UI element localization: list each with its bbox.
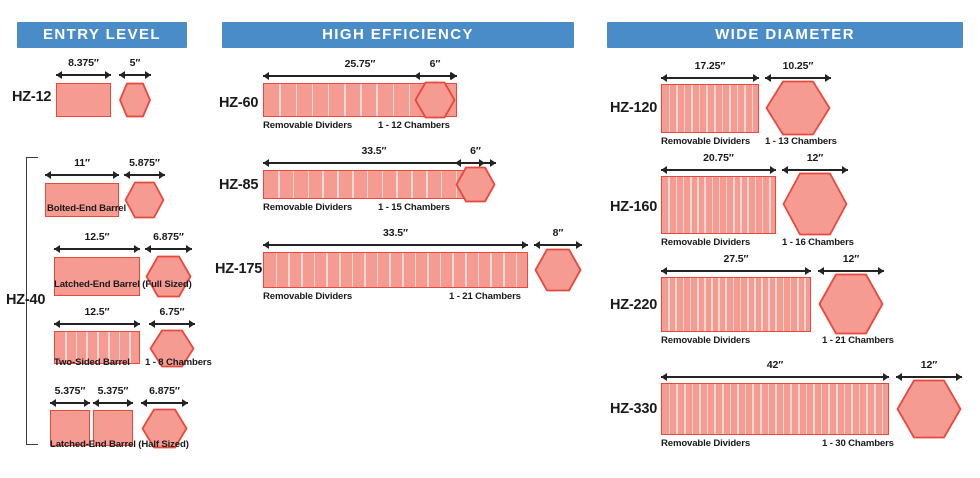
dimension-text-hz-12-hex: 5″ [119, 57, 151, 69]
barrel-divider [775, 384, 777, 434]
barrel-divider [768, 278, 770, 331]
barrel-divider [714, 85, 716, 132]
barrel-divider [293, 171, 295, 198]
barrel-divider [733, 278, 735, 331]
barrel-divider [676, 384, 678, 434]
caption-bolted-end-barrel: Bolted-End Barrel [47, 203, 126, 214]
barrel-divider [760, 384, 762, 434]
hexagon-hz-120 [765, 80, 831, 136]
column-header-wide-diameter: WIDE DIAMETER [607, 22, 963, 48]
barrel-divider [690, 278, 692, 331]
dimension-text-hz-12-barrel: 8.375″ [56, 57, 111, 69]
dimension-line-half-hex [141, 397, 188, 408]
dimension-line-hz-160-barrel [661, 164, 776, 175]
dimension-text-hz-330-hex: 12″ [896, 359, 962, 371]
barrel-hz-330 [661, 383, 889, 435]
barrel-divider [783, 278, 785, 331]
barrel-divider [722, 85, 724, 132]
dimension-text-hz-120-barrel: 17.25″ [661, 60, 759, 72]
caption-hz-220-dividers: Removable Dividers [661, 335, 750, 346]
barrel-divider [337, 171, 339, 198]
barrel-divider [740, 278, 742, 331]
barrel-divider [730, 384, 732, 434]
barrel-divider [352, 171, 354, 198]
dimension-text-bolted-barrel: 11″ [45, 157, 119, 169]
barrel-divider [478, 253, 480, 287]
barrel-divider [360, 84, 362, 116]
barrel-divider [684, 384, 686, 434]
dimension-text-latched-full-hex: 6.875″ [142, 231, 195, 243]
caption-hz-120-chambers: 1 - 13 Chambers [765, 136, 837, 147]
barrel-latched-end-full [54, 257, 140, 296]
model-label-hz-12: HZ-12 [12, 89, 51, 105]
dimension-text-hz-120-hex: 10.25″ [765, 60, 831, 72]
barrel-divider [726, 177, 728, 233]
dimension-text-hz-175-hex: 8″ [534, 227, 582, 239]
barrel-divider [737, 384, 739, 434]
barrel-divider [684, 85, 686, 132]
barrel-divider [683, 278, 685, 331]
barrel-divider [821, 384, 823, 434]
dimension-line-hz-12-barrel [56, 69, 111, 80]
barrel-divider [440, 253, 442, 287]
hexagon-hz-220 [818, 273, 884, 335]
column-header-high-efficiency: HIGH EFFICIENCY [222, 22, 574, 48]
barrel-divider [752, 384, 754, 434]
barrel-divider [452, 253, 454, 287]
dimension-line-hz-60-hex [414, 70, 456, 81]
barrel-divider [745, 384, 747, 434]
dimension-line-half-barrel-a [50, 397, 90, 408]
barrel-divider [692, 384, 694, 434]
dimension-text-hz-60-hex: 6″ [414, 58, 456, 70]
barrel-divider [278, 171, 280, 198]
barrel-divider [813, 384, 815, 434]
hexagon-hz-160 [782, 172, 848, 236]
barrel-divider [676, 85, 678, 132]
barrel-divider [775, 278, 777, 331]
caption-hz-330-dividers: Removable Dividers [661, 438, 750, 449]
dimension-text-hz-330-barrel: 42″ [661, 359, 889, 371]
barrel-divider [411, 171, 413, 198]
hexagon-hz-175 [534, 248, 582, 292]
caption-hz-220-chambers: 1 - 21 Chambers [822, 335, 894, 346]
barrel-divider [296, 84, 298, 116]
barrel-divider [704, 177, 706, 233]
model-label-hz-40: HZ-40 [6, 292, 45, 308]
caption-hz-330-chambers: 1 - 30 Chambers [822, 438, 894, 449]
barrel-divider [322, 171, 324, 198]
barrel-divider [790, 278, 792, 331]
barrel-divider [669, 384, 671, 434]
model-label-hz-220: HZ-220 [610, 297, 657, 313]
caption-hz-160-chambers: 1 - 16 Chambers [782, 237, 854, 248]
dimension-line-bolted-barrel [45, 169, 119, 180]
barrel-divider [836, 384, 838, 434]
barrel-divider [704, 278, 706, 331]
caption-hz-85-dividers: Removable Dividers [263, 202, 352, 213]
barrel-divider [308, 171, 310, 198]
barrel-hz-12 [56, 83, 111, 117]
dimension-line-latched-full-hex [145, 243, 192, 254]
barrel-divider [697, 177, 699, 233]
caption-hz-160-dividers: Removable Dividers [661, 237, 750, 248]
caption-hz-175-dividers: Removable Dividers [263, 291, 352, 302]
barrel-divider [752, 85, 754, 132]
dimension-text-bolted-hex: 5.875″ [121, 157, 168, 169]
barrel-divider [762, 177, 764, 233]
barrel-divider [874, 384, 876, 434]
barrel-divider [783, 384, 785, 434]
barrel-divider [402, 253, 404, 287]
dimension-text-two-sided-hex: 6.75″ [146, 306, 198, 318]
barrel-hz-120 [661, 84, 759, 133]
dimension-line-hz-175-barrel [263, 239, 528, 250]
barrel-divider [276, 253, 278, 287]
barrel-divider [882, 384, 884, 434]
model-label-hz-160: HZ-160 [610, 199, 657, 215]
dimension-line-latched-full-barrel [54, 243, 140, 254]
barrel-divider [326, 253, 328, 287]
barrel-divider [344, 84, 346, 116]
model-label-hz-175: HZ-175 [215, 261, 262, 277]
column-header-entry-level: ENTRY LEVEL [17, 22, 187, 48]
barrel-divider [669, 85, 671, 132]
caption-hz-175-chambers: 1 - 21 Chambers [449, 291, 521, 302]
barrel-divider [798, 384, 800, 434]
hexagon-latched-end-full [145, 255, 192, 298]
barrel-divider [382, 171, 384, 198]
barrel-divider [465, 253, 467, 287]
barrel-divider [804, 278, 806, 331]
barrel-divider [851, 384, 853, 434]
dimension-text-hz-85-hex: 6″ [455, 145, 496, 157]
barrel-divider [396, 171, 398, 198]
caption-hz-60-dividers: Removable Dividers [263, 120, 352, 131]
barrel-divider [744, 85, 746, 132]
barrel-divider [806, 384, 808, 434]
barrel-divider [714, 384, 716, 434]
barrel-divider [797, 278, 799, 331]
barrel-divider [755, 177, 757, 233]
barrel-divider [328, 84, 330, 116]
barrel-divider [441, 171, 443, 198]
barrel-divider [339, 253, 341, 287]
dimension-text-half-hex: 6.875″ [138, 385, 191, 397]
barrel-divider [844, 384, 846, 434]
barrel-divider [733, 177, 735, 233]
dimension-text-hz-160-barrel: 20.75″ [661, 152, 776, 164]
barrel-divider [747, 278, 749, 331]
model-label-hz-120: HZ-120 [610, 100, 657, 116]
barrel-divider [690, 177, 692, 233]
dimension-line-hz-85-barrel [263, 157, 485, 168]
barrel-divider [288, 253, 290, 287]
barrel-divider [389, 253, 391, 287]
caption-hz-60-chambers: 1 - 12 Chambers [378, 120, 450, 131]
barrel-divider [699, 85, 701, 132]
barrel-divider [376, 84, 378, 116]
dimension-line-hz-12-hex [119, 69, 151, 80]
barrel-divider [790, 384, 792, 434]
dimension-line-hz-330-barrel [661, 371, 889, 382]
barrel-divider [740, 177, 742, 233]
dimension-line-hz-120-barrel [661, 72, 759, 83]
barrel-divider [668, 278, 670, 331]
barrel-divider [367, 171, 369, 198]
barrel-divider [503, 253, 505, 287]
dimension-text-half-barrel-b: 5.375″ [88, 385, 138, 397]
barrel-divider [729, 85, 731, 132]
barrel-divider [301, 253, 303, 287]
barrel-divider [393, 84, 395, 116]
barrel-divider [707, 384, 709, 434]
caption-two-sided-barrel: Two-Sided Barrel [54, 357, 130, 368]
dimension-text-hz-175-barrel: 33.5″ [263, 227, 528, 239]
dimension-text-hz-220-barrel: 27.5″ [661, 253, 811, 265]
barrel-divider [516, 253, 518, 287]
barrel-hz-85 [263, 170, 485, 199]
dimension-text-hz-220-hex: 12″ [818, 253, 884, 265]
barrel-divider [279, 84, 281, 116]
barrel-divider [711, 278, 713, 331]
dimension-text-hz-160-hex: 12″ [782, 152, 848, 164]
hexagon-hz-12 [119, 82, 151, 118]
barrel-divider [859, 384, 861, 434]
barrel-divider [426, 171, 428, 198]
hexagon-hz-330 [896, 379, 962, 439]
barrel-divider [737, 85, 739, 132]
barrel-divider [699, 384, 701, 434]
barrel-divider [706, 85, 708, 132]
barrel-divider [364, 253, 366, 287]
hexagon-hz-60 [414, 81, 456, 119]
model-label-hz-60: HZ-60 [219, 95, 258, 111]
barrel-divider [866, 384, 868, 434]
caption-two-sided-chambers: 1 - 8 Chambers [145, 357, 212, 368]
barrel-divider [427, 253, 429, 287]
dimension-text-hz-85-barrel: 33.5″ [263, 145, 485, 157]
caption-hz-85-chambers: 1 - 15 Chambers [378, 202, 450, 213]
barrel-divider [828, 384, 830, 434]
model-label-hz-330: HZ-330 [610, 401, 657, 417]
barrel-divider [718, 278, 720, 331]
barrel-divider [712, 177, 714, 233]
barrel-divider [312, 84, 314, 116]
barrel-divider [769, 177, 771, 233]
caption-hz-120-dividers: Removable Dividers [661, 136, 750, 147]
caption-latched-end-half: Latched-End Barrel (Half Sized) [50, 439, 189, 450]
dimension-line-two-sided-barrel [54, 318, 140, 329]
model-label-hz-85: HZ-85 [219, 177, 258, 193]
barrel-hz-160 [661, 176, 776, 234]
dimension-line-bolted-hex [124, 169, 165, 180]
barrel-divider [697, 278, 699, 331]
barrel-divider [352, 253, 354, 287]
product-size-chart: ENTRY LEVEL HIGH EFFICIENCY WIDE DIAMETE… [0, 0, 980, 478]
barrel-divider [377, 253, 379, 287]
barrel-divider [725, 278, 727, 331]
dimension-line-half-barrel-b [93, 397, 133, 408]
caption-latched-end-full: Latched-End Barrel (Full Sized) [54, 279, 192, 290]
barrel-hz-175 [263, 252, 528, 288]
barrel-divider [761, 278, 763, 331]
barrel-divider [747, 177, 749, 233]
hexagon-hz-85 [455, 166, 496, 203]
barrel-divider [683, 177, 685, 233]
barrel-divider [668, 177, 670, 233]
barrel-divider [675, 278, 677, 331]
barrel-divider [768, 384, 770, 434]
dimension-text-two-sided-barrel: 12.5″ [54, 306, 140, 318]
dimension-line-two-sided-hex [149, 318, 195, 329]
barrel-divider [490, 253, 492, 287]
hexagon-bolted-end [124, 181, 165, 219]
barrel-divider [754, 278, 756, 331]
barrel-divider [314, 253, 316, 287]
barrel-hz-220 [661, 277, 811, 332]
barrel-divider [722, 384, 724, 434]
barrel-divider [719, 177, 721, 233]
barrel-divider [415, 253, 417, 287]
barrel-divider [676, 177, 678, 233]
dimension-line-hz-220-barrel [661, 265, 811, 276]
barrel-divider [691, 85, 693, 132]
barrel-divider [409, 84, 411, 116]
dimension-text-latched-full-barrel: 12.5″ [54, 231, 140, 243]
